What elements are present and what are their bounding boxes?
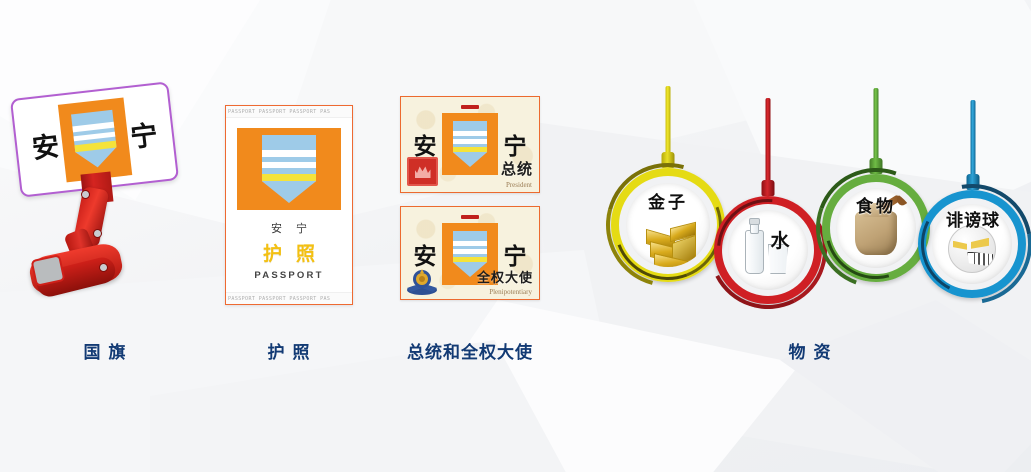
card-right-char: 宁 [501, 127, 529, 161]
shield-icon [453, 121, 487, 167]
passport-bottom-strip: PASSPORT PASSPORT PASSPORT PAS [226, 292, 352, 304]
passport-cover: PASSPORT PASSPORT PASSPORT PAS 安宁 护照 PAS… [225, 105, 353, 305]
ambassador-card: 安 宁 全权大使 Plenipotentiary [400, 206, 540, 300]
certificate-cards: 安 宁 总统 President 安 [400, 96, 540, 306]
card-flag-emblem [442, 113, 498, 175]
passport-flag-emblem [237, 128, 341, 210]
caption-flag: 国 旗 [10, 338, 200, 363]
eagle-seal-icon [405, 266, 439, 296]
caption-passport: 护 照 [225, 338, 353, 363]
shield-icon [262, 135, 316, 203]
president-subtitle: President [506, 181, 532, 189]
card-right-char: 宁 [501, 237, 529, 271]
flag-emblem-box [57, 97, 131, 182]
national-flag-illustration: 安 宁 [10, 78, 200, 303]
ambassador-title: 全权大使 [477, 267, 533, 286]
medallion-cord [874, 88, 879, 164]
screenshot-canvas: 安 宁 国 旗 PASSPORT PASSPORT PASS [0, 0, 1031, 472]
president-title: 总统 [501, 158, 533, 179]
caption-certificates: 总统和全权大使 [390, 338, 550, 363]
card-dash-mark [461, 105, 479, 109]
medallion-cord [766, 98, 771, 186]
passport-illustration: PASSPORT PASSPORT PASSPORT PAS 安宁 护照 PAS… [225, 105, 353, 305]
president-card: 安 宁 总统 President [400, 96, 540, 193]
ambassador-subtitle: Plenipotentiary [489, 288, 532, 296]
caption-supplies: 物 资 [700, 338, 920, 363]
medallion-gold: 金子 [608, 86, 728, 316]
flag-left-char: 安 [27, 124, 64, 166]
medallion-cord [666, 86, 671, 158]
shield-icon [70, 109, 118, 169]
passport-title-en: PASSPORT [254, 270, 323, 281]
clamp-pin [100, 264, 107, 271]
clamp-pin [82, 191, 89, 198]
angry-baseball-icon [948, 225, 996, 273]
supply-medallions-group: 金子 水 [600, 86, 1031, 316]
medallion-cord [971, 100, 976, 180]
passport-country-name: 安宁 [257, 220, 321, 236]
medallion-label: 水 [736, 226, 824, 253]
card-dash-mark [461, 215, 479, 219]
passport-top-strip: PASSPORT PASSPORT PASSPORT PAS [226, 106, 352, 118]
medallion-label: 金子 [608, 188, 728, 213]
flag-right-char: 宁 [125, 113, 162, 155]
rice-sack-icon [855, 211, 897, 255]
crown-seal-icon [407, 157, 438, 186]
medallion-label: 诽谤球 [914, 206, 1031, 231]
clamp-pin [94, 230, 101, 237]
passport-title-cn: 护照 [249, 239, 329, 266]
medallion-ball: 诽谤球 [914, 100, 1031, 316]
medallion-water: 水 [712, 98, 824, 316]
card-left-char: 安 [411, 127, 439, 161]
